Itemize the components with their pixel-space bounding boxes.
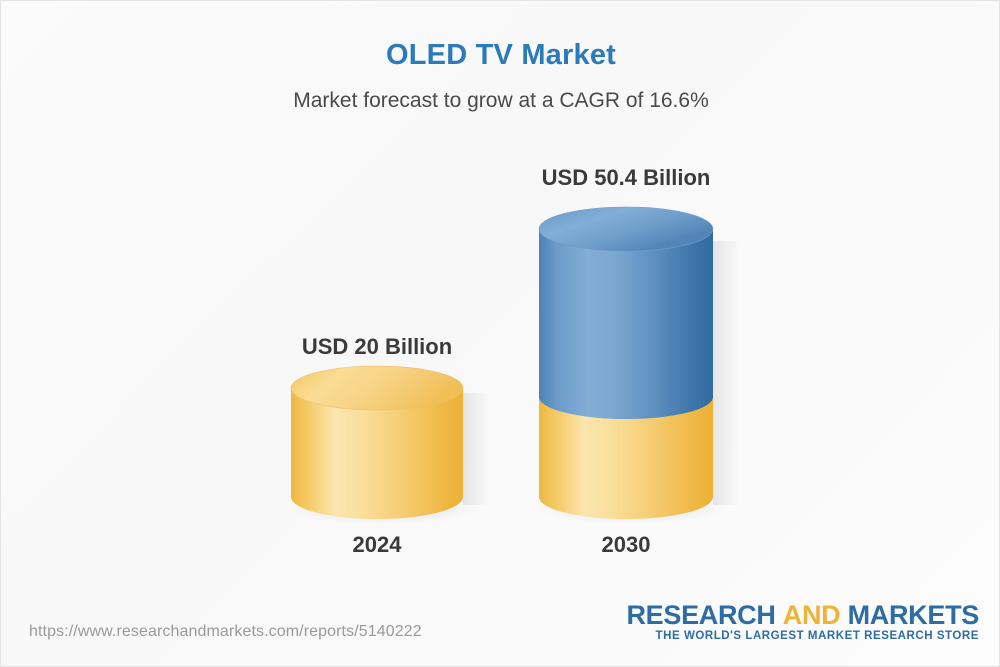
logo-word-research: RESEARCH [626, 600, 775, 630]
bar-cylinder-2030 [535, 207, 739, 524]
research-and-markets-logo: RESEARCH AND MARKETS THE WORLD'S LARGEST… [626, 601, 979, 644]
bar-side-shadow-2024 [463, 393, 489, 505]
bar-value-label-2030: USD 50.4 Billion [476, 165, 776, 191]
bar-top-2024 [291, 366, 463, 410]
bar-cylinder-2024 [287, 366, 489, 524]
bar-top-2030 [539, 207, 713, 251]
logo-wordmark: RESEARCH AND MARKETS [626, 601, 979, 629]
infographic-card: OLED TV Market Market forecast to grow a… [0, 0, 1000, 667]
source-url[interactable]: https://www.researchandmarkets.com/repor… [29, 623, 422, 641]
bar-category-label-2030: 2030 [476, 532, 776, 558]
logo-word-markets: MARKETS [848, 600, 979, 630]
logo-tagline: THE WORLD'S LARGEST MARKET RESEARCH STOR… [626, 630, 979, 644]
bar-side-shadow-2030 [713, 241, 739, 505]
chart-plot-area: USD 20 Billion USD 50.4 Billion 2024 203… [1, 1, 1000, 601]
logo-word-and: AND [783, 600, 841, 630]
bar-body-upper-2030 [539, 229, 713, 419]
cylinder-bar-chart-svg [1, 1, 1000, 601]
bar-value-label-2024: USD 20 Billion [227, 334, 527, 360]
